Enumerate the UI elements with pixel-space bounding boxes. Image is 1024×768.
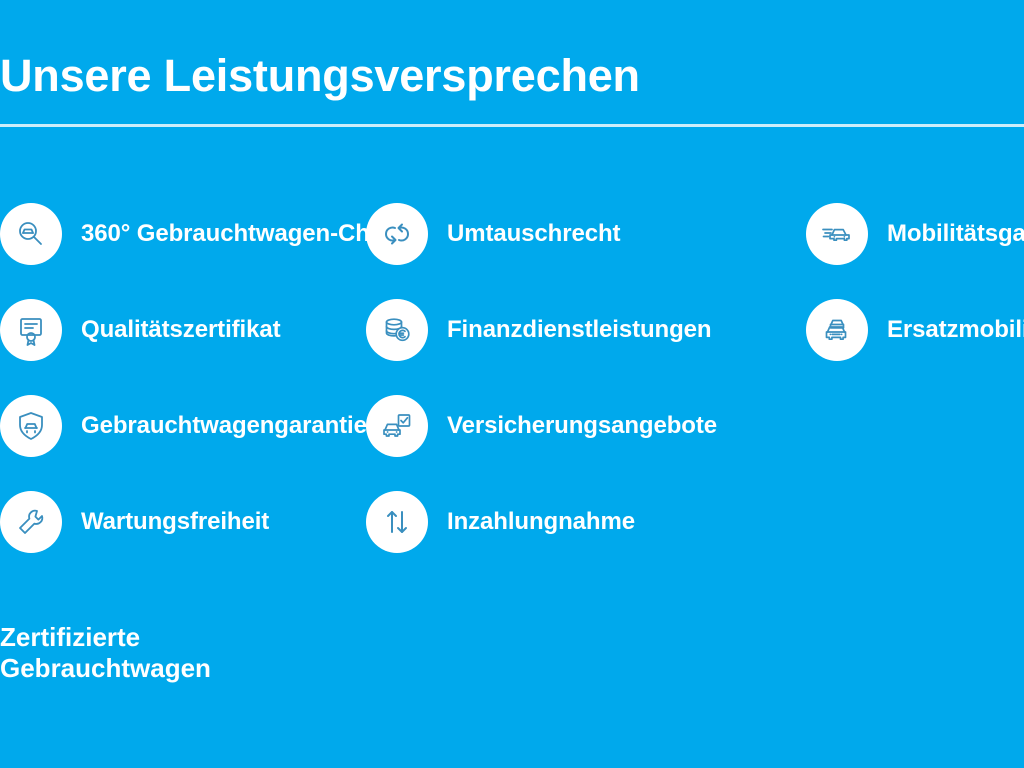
certificate-icon (0, 299, 62, 361)
promise-column-2: Umtauschrecht Finanzdienstleistun (366, 186, 726, 570)
brand-line-1: Zertifizierte (0, 622, 420, 653)
coins-euro-icon (366, 299, 428, 361)
page-title-block: Unsere Leistungsversprechen (0, 52, 1024, 99)
promise-item-mobility[interactable]: Mobilitätsgarantie (806, 186, 1024, 282)
promise-item-financing[interactable]: Finanzdienstleistungen (366, 282, 726, 378)
promise-label: 360° Gebrauchtwagen-Check (81, 221, 410, 247)
brand-block: Zertifizierte Gebrauchtwagen (0, 622, 420, 683)
promise-label: Mobilitätsgarantie (887, 221, 1024, 247)
up-down-arrows-icon (366, 491, 428, 553)
promise-label: Wartungsfreiheit (81, 509, 269, 535)
promise-item-tradein[interactable]: Inzahlungnahme (366, 474, 726, 570)
slide-stage: Unsere Leistungsversprechen 360° Gebrauc… (0, 0, 1024, 768)
promise-item-warranty[interactable]: Gebrauchtwagengarantie (0, 378, 360, 474)
promise-label: Gebrauchtwagengarantie (81, 413, 367, 439)
promise-column-1: 360° Gebrauchtwagen-Check Qualitätszerti… (0, 186, 360, 570)
car-checklist-icon (366, 395, 428, 457)
promise-label: Versicherungsangebote (447, 413, 717, 439)
promise-label: Inzahlungnahme (447, 509, 635, 535)
promise-label: Qualitätszertifikat (81, 317, 281, 343)
magnifier-car-icon (0, 203, 62, 265)
promise-item-maintenance[interactable]: Wartungsfreiheit (0, 474, 360, 570)
promise-label: Finanzdienstleistungen (447, 317, 711, 343)
brand-line-2: Gebrauchtwagen (0, 653, 420, 684)
two-cars-icon (806, 299, 868, 361)
page-title: Unsere Leistungsversprechen (0, 52, 1024, 99)
promise-item-replacement[interactable]: Ersatzmobilität (806, 282, 1024, 378)
exchange-arrows-icon (366, 203, 428, 265)
promise-label: Ersatzmobilität (887, 317, 1024, 343)
promise-item-exchange[interactable]: Umtauschrecht (366, 186, 726, 282)
promise-column-3: Mobilitätsgarantie Ersatzmobilität (806, 186, 1024, 378)
promise-item-insurance[interactable]: Versicherungsangebote (366, 378, 726, 474)
car-speed-icon (806, 203, 868, 265)
shield-car-icon (0, 395, 62, 457)
wrench-icon (0, 491, 62, 553)
promise-label: Umtauschrecht (447, 221, 620, 247)
slide-canvas: Unsere Leistungsversprechen 360° Gebrauc… (0, 0, 1024, 768)
promise-item-certificate[interactable]: Qualitätszertifikat (0, 282, 360, 378)
title-divider (0, 124, 1024, 127)
promise-item-check[interactable]: 360° Gebrauchtwagen-Check (0, 186, 360, 282)
